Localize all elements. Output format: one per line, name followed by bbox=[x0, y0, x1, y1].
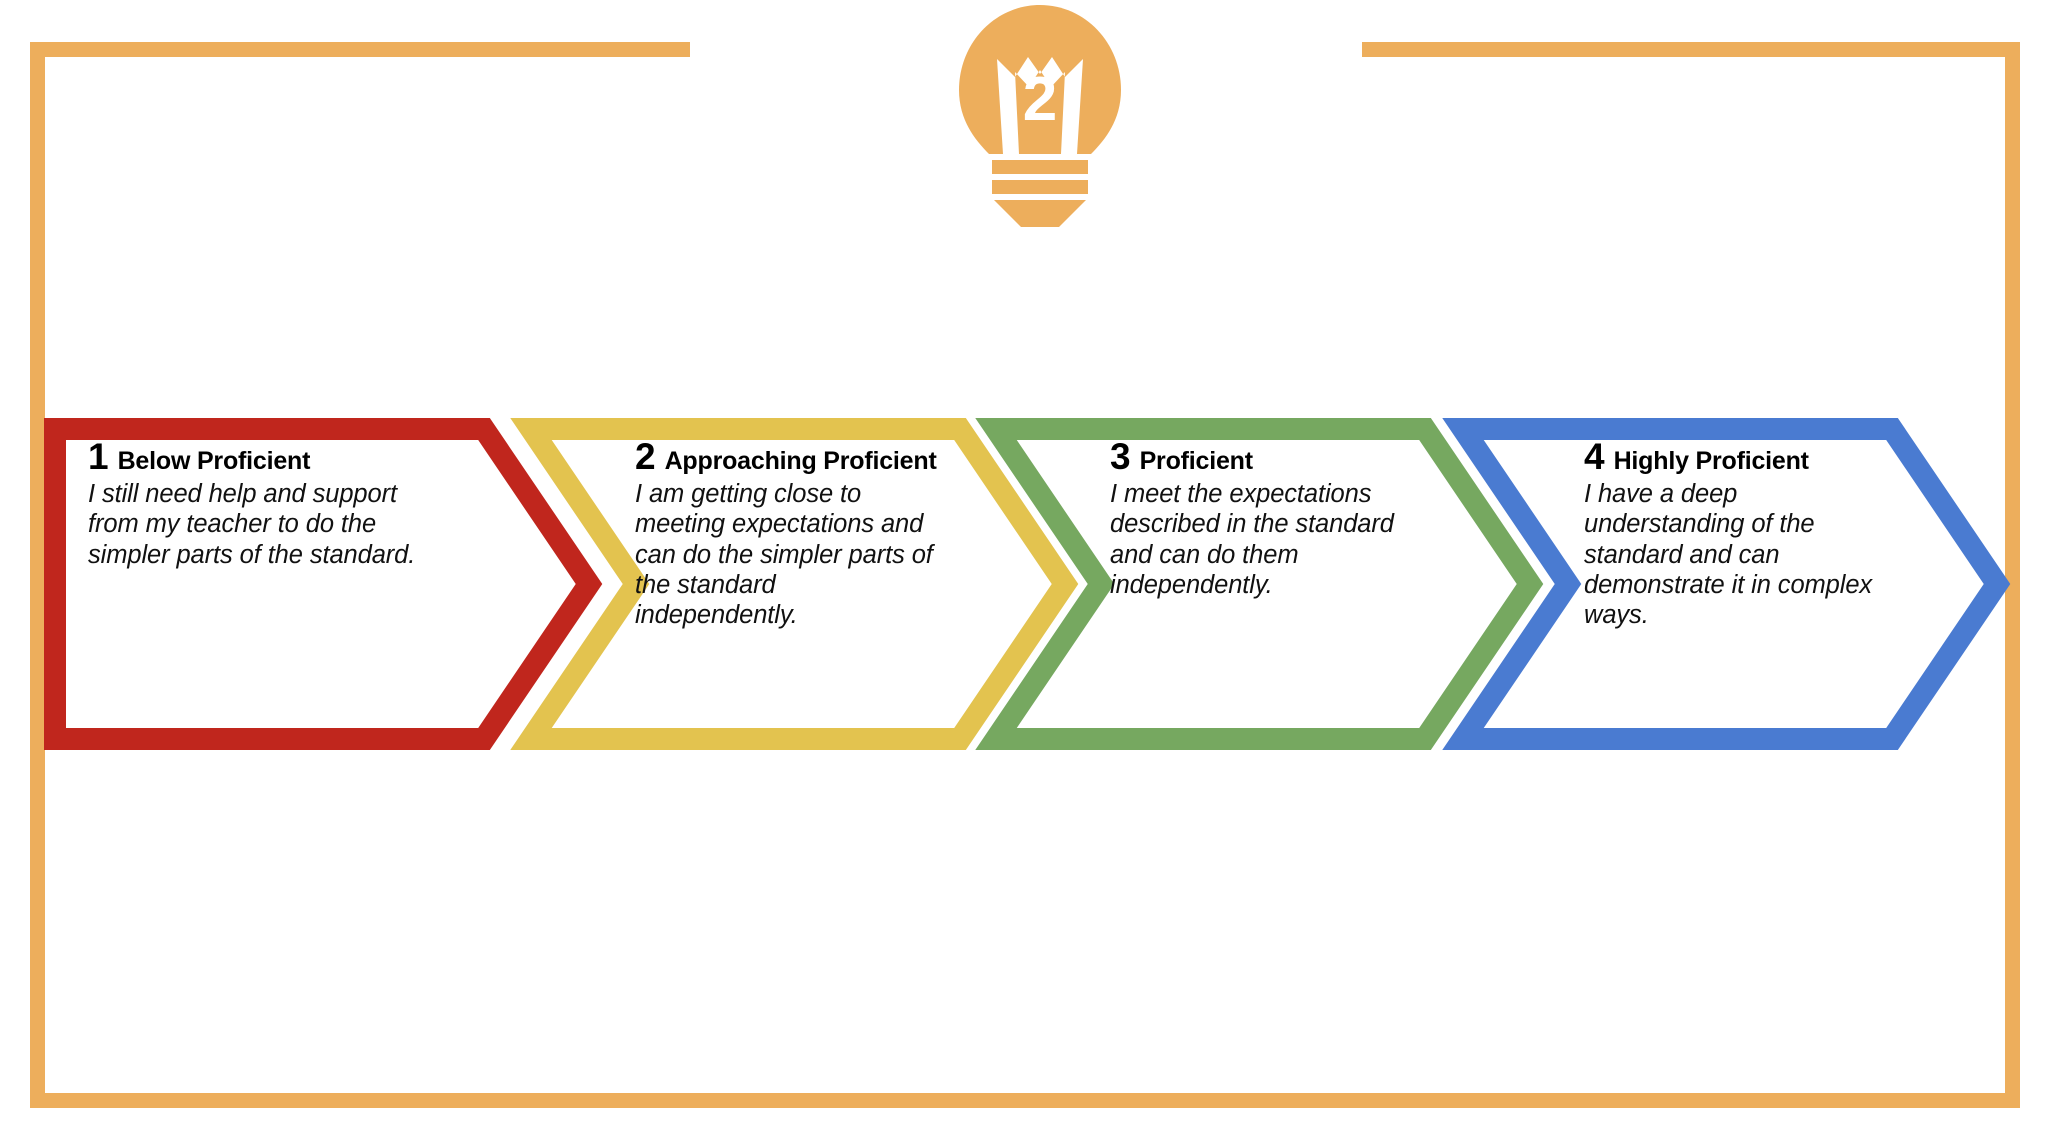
lightbulb-icon: 2 bbox=[945, 2, 1135, 232]
step-4-content: 4 Highly Proficient I have a deep unders… bbox=[1584, 438, 1904, 631]
step-2-description: I am getting close to meeting expectatio… bbox=[635, 479, 945, 631]
frame-border-top-left bbox=[30, 42, 690, 57]
frame-border-top-right bbox=[1362, 42, 2020, 57]
step-3-heading: 3 Proficient bbox=[1110, 438, 1410, 475]
proficiency-step-4[interactable]: 4 Highly Proficient I have a deep unders… bbox=[1452, 418, 2012, 750]
step-3-content: 3 Proficient I meet the expectations des… bbox=[1110, 438, 1410, 600]
step-3-title: Proficient bbox=[1140, 449, 1253, 474]
proficiency-scale-diagram: 1 Below Proficient I still need help and… bbox=[0, 418, 2048, 758]
step-1-content: 1 Below Proficient I still need help and… bbox=[88, 438, 418, 570]
step-2-heading: 2 Approaching Proficient bbox=[635, 438, 945, 475]
svg-text:2: 2 bbox=[1023, 65, 1057, 134]
step-3-description: I meet the expectations described in the… bbox=[1110, 479, 1410, 600]
step-4-number: 4 bbox=[1584, 438, 1605, 475]
step-4-heading: 4 Highly Proficient bbox=[1584, 438, 1904, 475]
step-4-title: Highly Proficient bbox=[1614, 449, 1809, 474]
step-2-content: 2 Approaching Proficient I am getting cl… bbox=[635, 438, 945, 631]
step-1-description: I still need help and support from my te… bbox=[88, 479, 418, 570]
step-3-number: 3 bbox=[1110, 438, 1131, 475]
step-1-title: Below Proficient bbox=[118, 449, 311, 474]
step-4-description: I have a deep understanding of the stand… bbox=[1584, 479, 1904, 631]
step-1-heading: 1 Below Proficient bbox=[88, 438, 418, 475]
step-2-title: Approaching Proficient bbox=[665, 449, 937, 474]
step-2-number: 2 bbox=[635, 438, 656, 475]
frame-border-bottom bbox=[30, 1093, 2020, 1108]
step-1-number: 1 bbox=[88, 438, 109, 475]
